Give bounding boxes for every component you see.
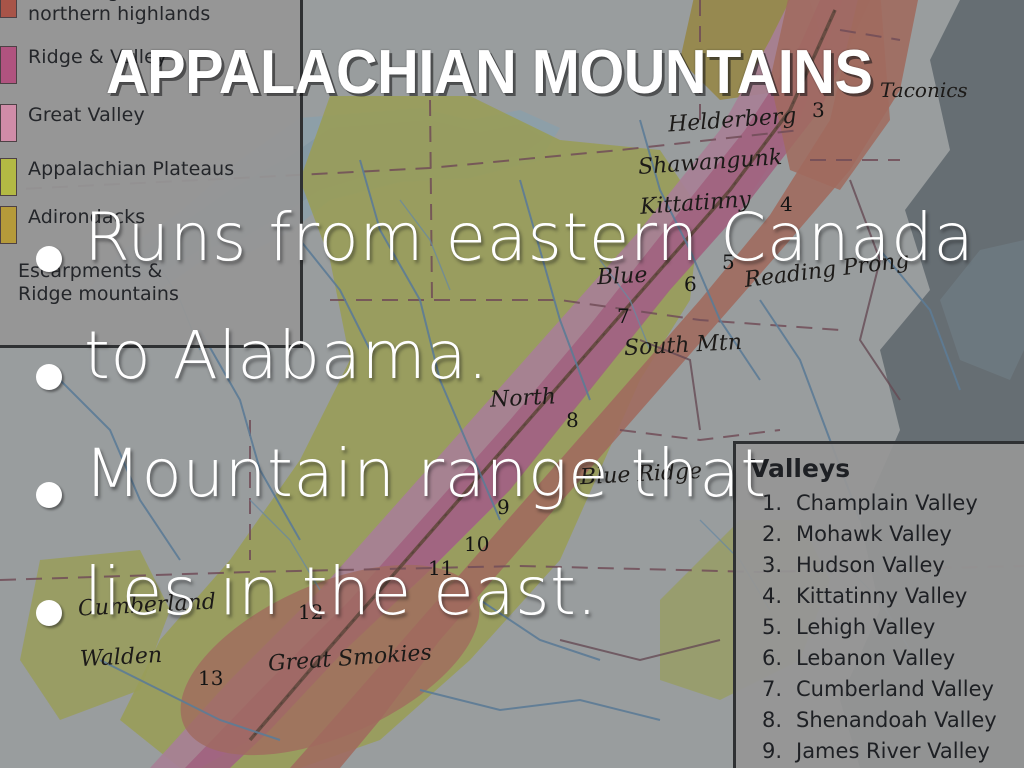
legend-item-label: Blue Ridge and northern highlands [28, 0, 210, 26]
valley-item-name: Shenandoah Valley [796, 705, 997, 736]
bullet-item: to Alabama. [36, 320, 1016, 432]
legend-color-swatch [0, 104, 17, 142]
valley-item-name: Cumberland Valley [796, 674, 994, 705]
legend-item-label: Appalachian Plateaus [28, 158, 234, 181]
valley-item-name: James River Valley [796, 736, 990, 767]
map-place-label: Taconics [880, 78, 968, 102]
bullet-dot-icon [36, 364, 62, 390]
legend-color-swatch [0, 158, 17, 196]
legend-color-swatch [0, 46, 17, 84]
bullet-dot-icon [36, 482, 62, 508]
page-title: APPALACHIAN MOUNTAINS [106, 42, 872, 104]
bullet-text: to Alabama. [84, 320, 489, 392]
legend-item: Great Valley [0, 104, 145, 142]
bullet-dot-icon [36, 600, 62, 626]
legend-item: Appalachian Plateaus [0, 158, 234, 196]
legend-color-swatch [0, 0, 17, 18]
bullet-text: Mountain range that [84, 438, 767, 510]
bullet-list: Runs from eastern Canadato Alabama.Mount… [36, 202, 1016, 674]
bullet-item: lies in the east. [36, 556, 1016, 668]
valley-item-number: 7. [762, 674, 796, 705]
bullet-text: lies in the east. [84, 556, 598, 628]
valley-item-number: 9. [762, 736, 796, 767]
slide-canvas: TaconicsHelderbergShawangunkKittatinnyRe… [0, 0, 1024, 768]
valley-list-item: 7.Cumberland Valley [762, 674, 1024, 705]
legend-item: Blue Ridge and northern highlands [0, 0, 210, 26]
valley-item-number: 8. [762, 705, 796, 736]
valley-list-item: 9.James River Valley [762, 736, 1024, 767]
bullet-dot-icon [36, 246, 62, 272]
legend-item-label: Great Valley [28, 104, 145, 127]
bullet-text: Runs from eastern Canada [84, 202, 974, 274]
valley-list-item: 8.Shenandoah Valley [762, 705, 1024, 736]
bullet-item: Runs from eastern Canada [36, 202, 1016, 314]
bullet-item: Mountain range that [36, 438, 1016, 550]
legend-color-swatch [0, 206, 17, 244]
